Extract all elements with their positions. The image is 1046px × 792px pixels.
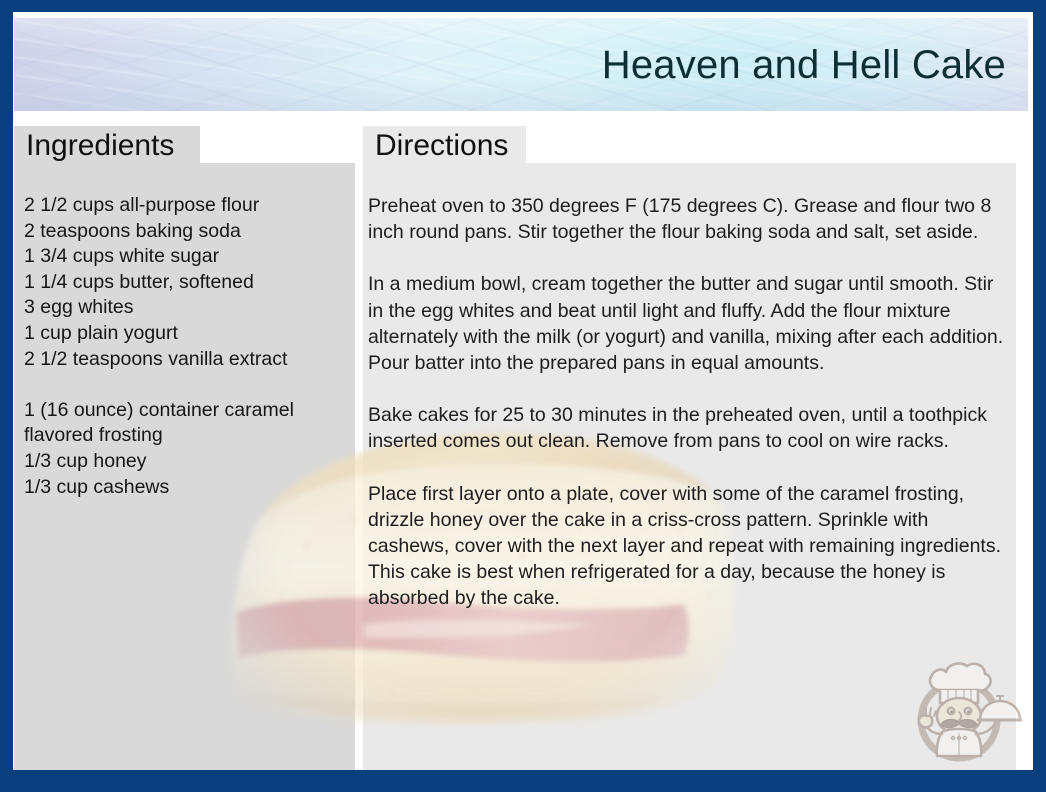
list-item: 1 (16 ounce) container caramel flavored … <box>24 398 342 449</box>
list-item: 3 egg whites <box>24 295 342 321</box>
list-item: 1/3 cup honey <box>24 449 342 475</box>
directions-text: Preheat oven to 350 degrees F (175 degre… <box>368 193 1012 612</box>
list-item: 2 1/2 teaspoons vanilla extract <box>24 347 342 373</box>
ingredients-heading: Ingredients <box>26 131 174 161</box>
list-item: 2 teaspoons baking soda <box>24 219 342 245</box>
direction-paragraph: Place first layer onto a plate, cover wi… <box>368 481 1012 612</box>
list-item: 1 1/4 cups butter, softened <box>24 270 342 296</box>
page-title: Heaven and Hell Cake <box>602 45 1006 85</box>
list-item: 1 cup plain yogurt <box>24 321 342 347</box>
list-item: 1 3/4 cups white sugar <box>24 244 342 270</box>
directions-heading: Directions <box>375 131 508 161</box>
header-banner: Heaven and Hell Cake <box>14 18 1028 111</box>
tab-directions[interactable]: Directions <box>363 126 526 166</box>
list-item: 1/3 cup cashews <box>24 475 342 501</box>
tab-ingredients[interactable]: Ingredients <box>14 126 200 166</box>
list-item: 2 1/2 cups all-purpose flour <box>24 193 342 219</box>
ingredients-list: 2 1/2 cups all-purpose flour 2 teaspoons… <box>24 193 342 500</box>
direction-paragraph: Preheat oven to 350 degrees F (175 degre… <box>368 193 1012 245</box>
list-spacer <box>24 372 342 398</box>
recipe-card: Heaven and Hell Cake <box>0 0 1046 792</box>
direction-paragraph: In a medium bowl, cream together the but… <box>368 271 1012 376</box>
direction-paragraph: Bake cakes for 25 to 30 minutes in the p… <box>368 402 1012 454</box>
